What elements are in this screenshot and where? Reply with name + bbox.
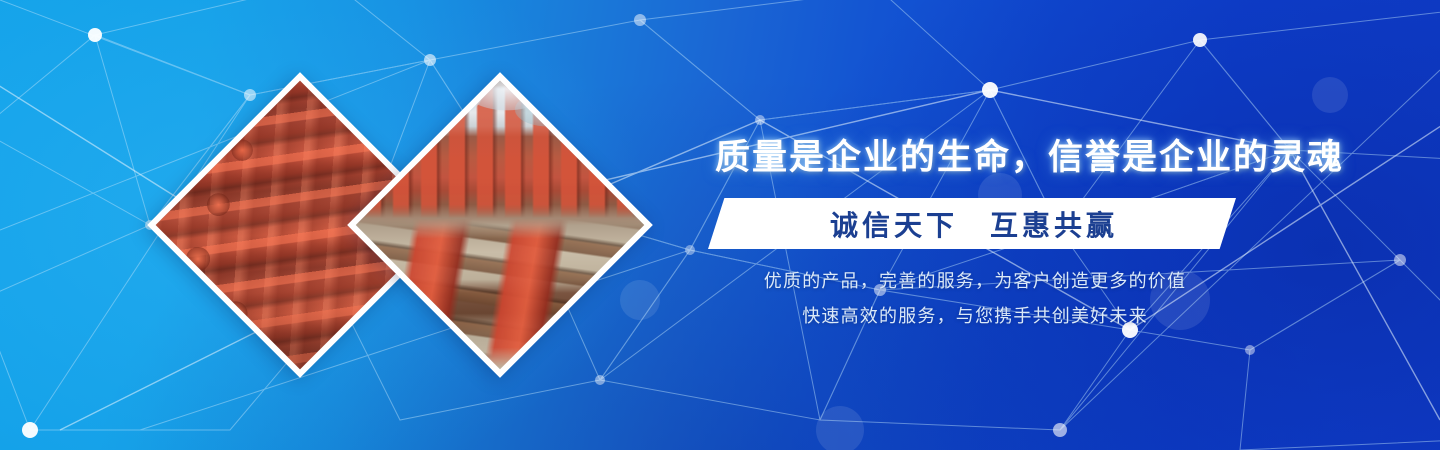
slogan-ribbon-text: 诚信天下 互惠共赢	[708, 198, 1236, 249]
promotional-banner: 质量是企业的生命，信誉是企业的灵魂 诚信天下 互惠共赢 优质的产品，完善的服务，…	[0, 0, 1440, 450]
banner-subline-2: 快速高效的服务，与您携手共创美好未来	[715, 302, 1235, 328]
slogan-ribbon: 诚信天下 互惠共赢	[708, 198, 1236, 249]
banner-subline-1: 优质的产品，完善的服务，为客户创造更多的价值	[715, 267, 1235, 293]
banner-headline: 质量是企业的生命，信誉是企业的灵魂	[715, 134, 1235, 182]
